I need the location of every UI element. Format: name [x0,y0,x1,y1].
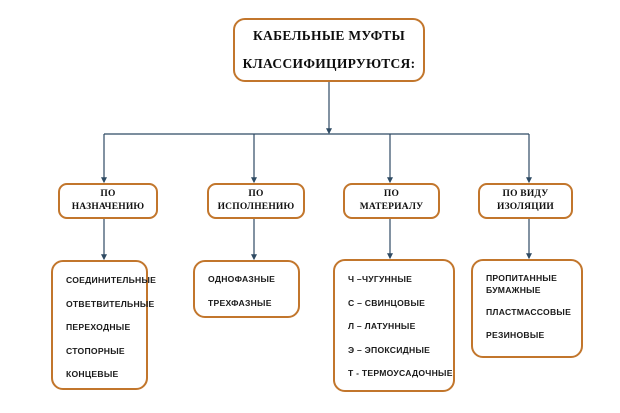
list-node-by-insulation-type: ПРОПИТАННЫЕ БУМАЖНЫЕ ПЛАСТМАССОВЫЕ РЕЗИН… [471,259,583,358]
list-item: ТРЕХФАЗНЫЕ [208,298,298,310]
list-item: ПЛАСТМАССОВЫЕ [486,307,581,319]
list-node-by-design: ОДНОФАЗНЫЕ ТРЕХФАЗНЫЕ [193,260,300,318]
list-item: РЕЗИНОВЫЕ [486,330,581,342]
classification-diagram: КАБЕЛЬНЫЕ МУФТЫ КЛАССИФИЦИРУЮТСЯ: ПО НАЗ… [0,0,620,413]
list-node-by-purpose: СОЕДИНИТЕЛЬНЫЕ ОТВЕТВИТЕЛЬНЫЕ ПЕРЕХОДНЫЕ… [51,260,148,390]
list-item: ОДНОФАЗНЫЕ [208,274,298,286]
list-item: Э – ЭПОКСИДНЫЕ [348,345,453,357]
category-node-by-insulation-type-line-1: ПО ВИДУ [503,188,549,201]
list-node-by-material: Ч –ЧУГУННЫЕ С – СВИНЦОВЫЕ Л – ЛАТУННЫЕ Э… [333,259,455,392]
list-item: Ч –ЧУГУННЫЕ [348,274,453,286]
list-item: ПЕРЕХОДНЫЕ [66,322,146,334]
list-item: КОНЦЕВЫЕ [66,369,146,381]
list-item: ПРОПИТАННЫЕ БУМАЖНЫЕ [486,273,581,296]
list-item: С – СВИНЦОВЫЕ [348,298,453,310]
root-node-line-1: КАБЕЛЬНЫЕ МУФТЫ [253,29,405,44]
list-item: Т - ТЕРМОУСАДОЧНЫЕ [348,368,453,380]
root-node-cable-couplings: КАБЕЛЬНЫЕ МУФТЫ КЛАССИФИЦИРУЮТСЯ: [233,18,425,82]
list-item: Л – ЛАТУННЫЕ [348,321,453,333]
category-node-by-insulation-type-line-2: ИЗОЛЯЦИИ [497,201,554,214]
category-node-by-purpose: ПО НАЗНАЧЕНИЮ [58,183,158,219]
list-item: СОЕДИНИТЕЛЬНЫЕ [66,275,146,287]
category-node-by-purpose-line-2: НАЗНАЧЕНИЮ [72,201,145,214]
category-node-by-purpose-line-1: ПО [100,188,115,201]
category-node-by-design-line-1: ПО [248,188,263,201]
root-node-line-2: КЛАССИФИЦИРУЮТСЯ: [243,57,416,72]
list-item: ОТВЕТВИТЕЛЬНЫЕ [66,299,146,311]
category-node-by-design-line-2: ИСПОЛНЕНИЮ [218,201,295,214]
list-item: СТОПОРНЫЕ [66,346,146,358]
category-node-by-insulation-type: ПО ВИДУ ИЗОЛЯЦИИ [478,183,573,219]
category-node-by-material-line-1: ПО [384,188,399,201]
category-node-by-material: ПО МАТЕРИАЛУ [343,183,440,219]
category-node-by-design: ПО ИСПОЛНЕНИЮ [207,183,305,219]
category-node-by-material-line-2: МАТЕРИАЛУ [360,201,424,214]
